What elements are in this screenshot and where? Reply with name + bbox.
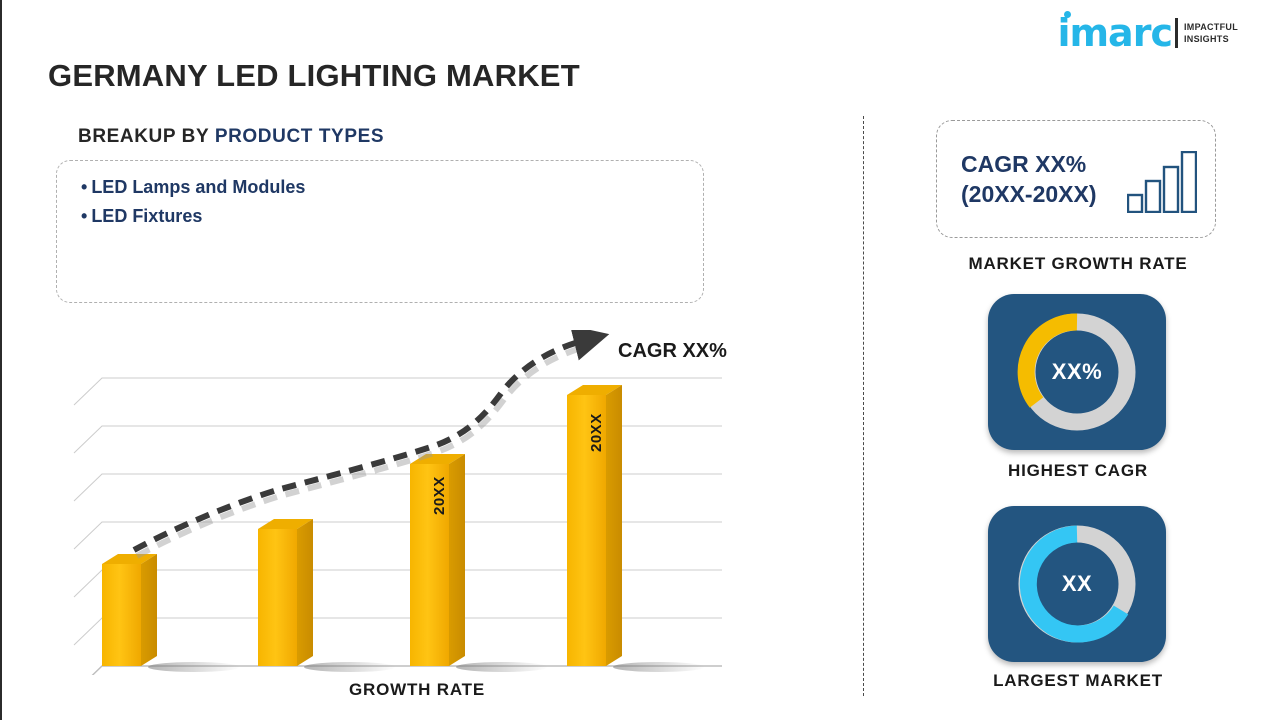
market-growth-rate-label: MARKET GROWTH RATE [938, 254, 1218, 274]
logo-wordmark-text: imarc [1057, 11, 1172, 55]
logo-tagline-line1: IMPACTFUL [1184, 21, 1238, 33]
chart-svg [62, 330, 762, 675]
breakup-heading-prefix: BREAKUP BY [78, 126, 215, 147]
cagr-summary-line1: CAGR XX% [961, 149, 1097, 179]
logo-tagline-line2: INSIGHTS [1184, 33, 1238, 45]
imarc-logo: imarc IMPACTFUL INSIGHTS [1057, 13, 1238, 53]
bar-1 [102, 554, 157, 666]
trend-line [134, 340, 589, 556]
list-item-label: LED Fixtures [91, 206, 202, 226]
logo-wordmark: imarc [1057, 14, 1172, 52]
bar-2 [258, 519, 313, 666]
cagr-summary-box: CAGR XX% (20XX-20XX) [936, 120, 1216, 238]
bar-chart-icon [1127, 151, 1197, 218]
page-title: GERMANY LED LIGHTING MARKET [48, 58, 580, 94]
breakup-list-box: •LED Lamps and Modules •LED Fixtures [56, 160, 704, 303]
breakup-heading-accent: PRODUCT TYPES [215, 126, 384, 147]
cagr-summary-line2: (20XX-20XX) [961, 179, 1097, 209]
bar-label-4: 20XX [588, 413, 605, 452]
chart-x-axis-label: GROWTH RATE [349, 680, 485, 700]
largest-market-value: XX [1062, 571, 1092, 597]
cagr-summary-text: CAGR XX% (20XX-20XX) [961, 149, 1097, 209]
highest-cagr-value: XX% [1052, 359, 1102, 385]
infographic-page: imarc IMPACTFUL INSIGHTS GERMANY LED LIG… [0, 0, 1280, 720]
chart-gridlines [74, 378, 722, 645]
growth-rate-bar-chart: CAGR XX% 20XX 20XX GROWTH RATE [62, 330, 762, 675]
logo-divider [1175, 18, 1178, 48]
highest-cagr-tile: XX% [988, 294, 1166, 450]
bar-label-3: 20XX [431, 476, 448, 515]
chart-cagr-annotation: CAGR XX% [618, 340, 727, 363]
list-item: •LED Lamps and Modules [81, 173, 703, 202]
vertical-divider [863, 116, 864, 696]
list-item: •LED Fixtures [81, 202, 703, 231]
bullet-dot-icon: • [81, 177, 87, 197]
largest-market-label: LARGEST MARKET [938, 671, 1218, 691]
highest-cagr-label: HIGHEST CAGR [938, 461, 1218, 481]
list-item-label: LED Lamps and Modules [91, 177, 305, 197]
logo-tagline: IMPACTFUL INSIGHTS [1184, 21, 1238, 45]
breakup-heading: BREAKUP BY PRODUCT TYPES [78, 126, 384, 148]
bullet-dot-icon: • [81, 206, 87, 226]
largest-market-tile: XX [988, 506, 1166, 662]
